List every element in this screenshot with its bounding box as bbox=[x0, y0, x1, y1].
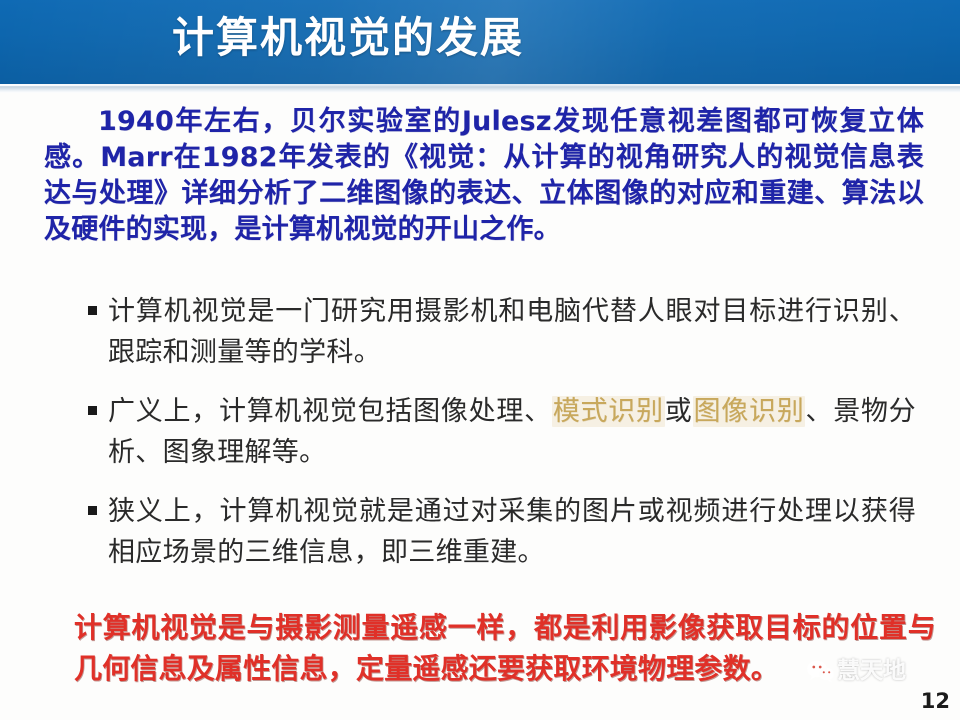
conclusion-note: 计算机视觉是与摄影测量遥感一样，都是利用影像获取目标的位置与几何信息及属性信息，… bbox=[74, 607, 936, 690]
highlighted-term-pattern-recognition: 模式识别 bbox=[552, 396, 665, 427]
intro-paragraph: 1940年左右，贝尔实验室的Julesz发现任意视差图都可恢复立体感。Marr在… bbox=[44, 104, 924, 248]
square-bullet-icon bbox=[88, 306, 97, 315]
page-title: 计算机视觉的发展 bbox=[172, 13, 524, 63]
page-number: 12 bbox=[921, 691, 950, 712]
highlighted-term-image-recognition: 图像识别 bbox=[693, 396, 806, 427]
definition-bullet-list: 计算机视觉是一门研究用摄影机和电脑代替人眼对目标进行识别、跟踪和测量等的学科。 … bbox=[86, 291, 916, 573]
list-item-text: 狭义上，计算机视觉就是通过对采集的图片或视频进行处理以获得相应场景的三维信息，即… bbox=[108, 496, 916, 568]
square-bullet-icon bbox=[88, 406, 97, 415]
list-item: 狭义上，计算机视觉就是通过对采集的图片或视频进行处理以获得相应场景的三维信息，即… bbox=[86, 491, 916, 573]
list-item: 广义上，计算机视觉包括图像处理、模式识别或图像识别、景物分析、图象理解等。 bbox=[86, 391, 916, 473]
slide-canvas: 计算机视觉的发展 1940年左右，贝尔实验室的Julesz发现任意视差图都可恢复… bbox=[0, 0, 960, 720]
list-item: 计算机视觉是一门研究用摄影机和电脑代替人眼对目标进行识别、跟踪和测量等的学科。 bbox=[86, 291, 916, 373]
square-bullet-icon bbox=[88, 506, 97, 515]
title-band-underline bbox=[0, 84, 960, 93]
list-item-text: 计算机视觉是一门研究用摄影机和电脑代替人眼对目标进行识别、跟踪和测量等的学科。 bbox=[108, 296, 916, 368]
list-item-text: 或 bbox=[665, 396, 693, 427]
list-item-text: 广义上，计算机视觉包括图像处理、 bbox=[108, 396, 552, 427]
